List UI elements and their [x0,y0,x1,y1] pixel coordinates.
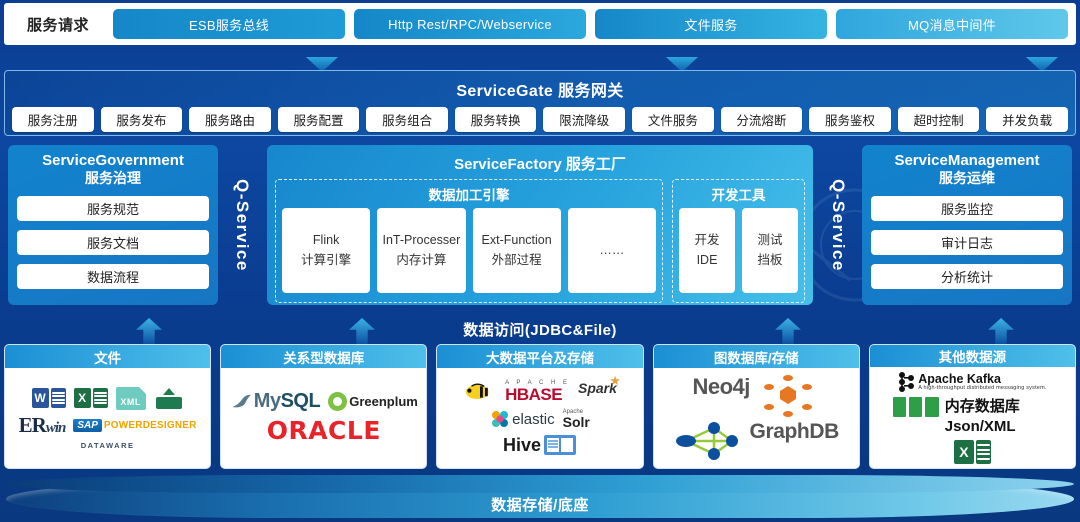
source-card-graphdb[interactable]: 图数据库/存储 Neo4j [653,344,860,469]
green-archive-icon [154,387,184,410]
kafka-logo: Apache Kafka A high-throughput distribut… [898,371,1046,393]
neo4j-graph-icon [674,420,744,462]
gate-capability-auth[interactable]: 服务鉴权 [809,107,891,132]
source-card-files-title: 文件 [5,345,210,368]
dataware-logo: DATAWARE [81,441,135,450]
q-service-divider-left: Q-Service [222,145,262,305]
hbase-logo: A P A C H E HBASE [505,380,570,404]
memory-database-label: 内存数据库 Json/XML [945,397,1052,436]
source-card-bigdata[interactable]: 大数据平台及存储 A P A C H E HBASE ★ Spark [436,344,643,469]
gate-capability-timeout[interactable]: 超时控制 [898,107,980,132]
excel-icon-other: X [954,440,991,464]
green-grid-icon [893,397,939,417]
source-card-others-title: 其他数据源 [870,345,1075,367]
service-government-header: ServiceGovernment 服务治理 [17,152,209,187]
source-card-files[interactable]: 文件 W X XML ERwin SAP POWERDESIGNER [4,344,211,469]
service-government-panel: ServiceGovernment 服务治理 服务规范 服务文档 数据流程 [8,145,218,305]
governance-item-data-flow[interactable]: 数据流程 [17,264,209,289]
engine-ext-function-name: Ext-Function [482,233,552,249]
service-gate-panel: ServiceGate 服务网关 服务注册 服务发布 服务路由 服务配置 服务组… [4,70,1076,136]
engine-card-ext-function[interactable]: Ext-Function 外部过程 [473,208,561,293]
gate-capability-service-compose[interactable]: 服务组合 [366,107,448,132]
gate-capability-circuit-breaker[interactable]: 分流熔断 [721,107,803,132]
engine-ext-function-desc: 外部过程 [492,253,542,269]
spark-logo: ★ Spark [578,380,617,404]
engine-int-processer-desc: 内存计算 [396,253,446,269]
neo4j-logo: Neo4j [693,374,750,418]
q-service-label-left: Q-Service [232,179,252,272]
engine-card-int-processer[interactable]: InT-Processer 内存计算 [377,208,465,293]
tools-card-dev-ide[interactable]: 开发 IDE [679,208,735,293]
service-factory-title: ServiceFactory 服务工厂 [275,150,805,179]
engine-card-flink[interactable]: Flink 计算引擎 [282,208,370,293]
gate-capability-service-route[interactable]: 服务路由 [189,107,271,132]
storage-platform-base: 数据存储/底座 [0,472,1080,522]
tools-dev-desc: IDE [697,253,718,269]
erwin-logo: ERwin [19,415,66,436]
engine-int-processer-name: InT-Processer [382,233,460,249]
word-icon: W [32,387,66,410]
hive-logo: Hive [442,434,637,456]
gate-capability-concurrency[interactable]: 并发负载 [986,107,1068,132]
mysql-dolphin-icon [230,392,252,410]
engine-flink-desc: 计算引擎 [301,253,351,269]
hive-document-icon [543,434,577,456]
channel-esb[interactable]: ESB服务总线 [113,9,345,39]
solr-logo: Apache Solr [563,409,590,429]
kafka-mark-icon [898,371,916,393]
service-management-panel: ServiceManagement 服务运维 服务监控 审计日志 分析统计 [862,145,1072,305]
elastic-logo: elastic [490,409,555,429]
platform-disc-top [6,475,1074,493]
management-item-service-monitor[interactable]: 服务监控 [871,196,1063,221]
service-management-title-cn: 服务运维 [871,170,1063,187]
gate-capability-service-register[interactable]: 服务注册 [12,107,94,132]
xml-file-icon: XML [116,387,146,410]
service-request-row: 服务请求 ESB服务总线 Http Rest/RPC/Webservice 文件… [4,3,1076,45]
dev-tools-group: 开发工具 开发 IDE 测试 挡板 [672,179,805,303]
mysql-logo: MySQL [230,391,320,411]
sap-logo: SAP POWERDESIGNER [73,415,196,436]
graphdb-logo: GraphDB [750,420,839,462]
platform-label: 数据存储/底座 [0,494,1080,515]
gate-capability-service-transform[interactable]: 服务转换 [455,107,537,132]
channel-mq[interactable]: MQ消息中间件 [836,9,1068,39]
tools-test-desc: 挡板 [757,253,782,269]
tools-card-test-stub[interactable]: 测试 挡板 [742,208,798,293]
data-processing-engine-title: 数据加工引擎 [282,184,656,208]
oracle-logo: ORACLE [226,416,421,445]
dev-tools-title: 开发工具 [679,184,798,208]
engine-more-name: …… [599,243,624,259]
channel-http-rest[interactable]: Http Rest/RPC/Webservice [354,9,586,39]
service-factory-panel: ServiceFactory 服务工厂 数据加工引擎 Flink 计算引擎 In… [267,145,813,305]
source-card-rdbms[interactable]: 关系型数据库 MySQL Greenplum ORACLE [220,344,427,469]
engine-flink-name: Flink [313,233,339,249]
service-management-title-en: ServiceManagement [871,152,1063,170]
gate-capability-service-config[interactable]: 服务配置 [278,107,360,132]
tools-test-name: 测试 [757,233,782,249]
spark-star-icon: ★ [609,373,621,389]
source-card-rdbms-title: 关系型数据库 [221,345,426,368]
service-government-title-cn: 服务治理 [17,170,209,187]
greenplum-mark-icon [328,392,347,411]
data-processing-engine-group: 数据加工引擎 Flink 计算引擎 InT-Processer 内存计算 Ext… [275,179,663,303]
apache-hive-bee-icon [463,380,497,404]
governance-item-service-spec[interactable]: 服务规范 [17,196,209,221]
source-card-graphdb-title: 图数据库/存储 [654,345,859,368]
data-source-card-row: 文件 W X XML ERwin SAP POWERDESIGNER [4,344,1076,469]
service-management-header: ServiceManagement 服务运维 [871,152,1063,187]
gate-capability-service-publish[interactable]: 服务发布 [101,107,183,132]
gate-capability-rate-limit[interactable]: 限流降级 [543,107,625,132]
excel-icon: X [74,387,108,410]
q-service-label-right: Q-Service [828,179,848,272]
service-government-title-en: ServiceGovernment [17,152,209,170]
graphdb-hexagon-icon [756,374,820,418]
greenplum-logo: Greenplum [328,391,418,411]
management-item-analytics[interactable]: 分析统计 [871,264,1063,289]
service-gate-capability-list: 服务注册 服务发布 服务路由 服务配置 服务组合 服务转换 限流降级 文件服务 … [5,101,1075,132]
source-card-bigdata-title: 大数据平台及存储 [437,345,642,368]
q-service-divider-right: Q-Service [818,145,858,305]
source-card-others[interactable]: 其他数据源 Apache Kafka A high-throughput dis… [869,344,1076,469]
governance-item-service-doc[interactable]: 服务文档 [17,230,209,255]
data-access-bar: 数据访问(JDBC&File) [0,313,1080,345]
data-access-label: 数据访问(JDBC&File) [463,319,617,340]
channel-file-service[interactable]: 文件服务 [595,9,827,39]
tools-dev-name: 开发 [694,233,719,249]
service-gate-title: ServiceGate 服务网关 [5,71,1075,101]
middle-band: ServiceGovernment 服务治理 服务规范 服务文档 数据流程 Q-… [4,142,1076,310]
gate-capability-file-service[interactable]: 文件服务 [632,107,714,132]
engine-card-more[interactable]: …… [568,208,656,293]
elastic-mark-icon [490,409,510,429]
management-item-audit-log[interactable]: 审计日志 [871,230,1063,255]
service-request-label: 服务请求 [12,14,104,35]
